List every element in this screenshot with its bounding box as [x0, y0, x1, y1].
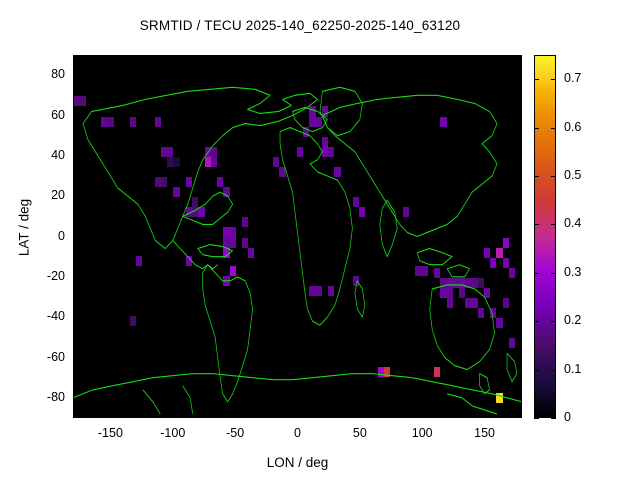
y-tick-label: -80	[19, 390, 65, 404]
colorbar-tick	[551, 370, 556, 371]
x-tick	[360, 55, 361, 60]
y-tick	[73, 75, 78, 76]
colorbar-tick	[534, 370, 539, 371]
colorbar-tick	[534, 418, 539, 419]
x-tick	[485, 55, 486, 60]
x-tick	[110, 413, 111, 418]
x-axis-label: LON / deg	[73, 455, 522, 470]
colorbar-tick-label: 0.4	[564, 216, 614, 230]
colorbar-tick-label: 0.5	[564, 168, 614, 182]
y-tick	[73, 317, 78, 318]
x-tick	[422, 55, 423, 60]
y-tick	[517, 358, 522, 359]
y-tick-label: 80	[19, 67, 65, 81]
y-tick-label: 0	[19, 229, 65, 243]
x-tick	[235, 55, 236, 60]
x-tick	[110, 55, 111, 60]
colorbar-tick	[551, 273, 556, 274]
x-tick	[298, 413, 299, 418]
colorbar-tick-label: 0.2	[564, 313, 614, 327]
colorbar-tick	[551, 418, 556, 419]
x-tick	[422, 413, 423, 418]
colorbar-tick-label: 0.6	[564, 120, 614, 134]
colorbar-tick	[551, 128, 556, 129]
colorbar-tick	[534, 79, 539, 80]
colorbar-tick	[534, 128, 539, 129]
y-tick-label: 40	[19, 148, 65, 162]
colorbar-tick-label: 0.3	[564, 265, 614, 279]
colorbar	[534, 55, 556, 418]
colorbar-tick-label: 0.7	[564, 71, 614, 85]
coastline-overlay	[73, 55, 522, 418]
y-tick	[73, 196, 78, 197]
y-tick	[73, 237, 78, 238]
colorbar-tick	[534, 273, 539, 274]
x-tick	[173, 55, 174, 60]
colorbar-tick	[534, 176, 539, 177]
y-tick-label: 60	[19, 108, 65, 122]
y-tick	[517, 237, 522, 238]
x-tick-label: -150	[80, 426, 140, 440]
colorbar-tick	[551, 321, 556, 322]
colorbar-tick-label: 0.1	[564, 362, 614, 376]
y-tick	[73, 116, 78, 117]
y-tick	[517, 196, 522, 197]
x-tick	[360, 413, 361, 418]
y-tick	[517, 156, 522, 157]
y-tick-label: -60	[19, 350, 65, 364]
y-tick-label: 20	[19, 188, 65, 202]
y-tick	[73, 277, 78, 278]
chart-title: SRMTID / TECU 2025-140_62250-2025-140_63…	[0, 18, 600, 33]
colorbar-tick	[551, 224, 556, 225]
x-tick-label: -50	[205, 426, 265, 440]
x-tick-label: 50	[330, 426, 390, 440]
y-tick	[517, 398, 522, 399]
map-plot-area	[73, 55, 522, 418]
y-tick-label: -40	[19, 309, 65, 323]
y-tick	[73, 358, 78, 359]
y-tick	[517, 317, 522, 318]
x-tick-label: 0	[268, 426, 328, 440]
x-tick-label: 100	[392, 426, 452, 440]
colorbar-tick-label: 0	[564, 410, 614, 424]
x-tick	[173, 413, 174, 418]
x-tick	[485, 413, 486, 418]
x-tick	[235, 413, 236, 418]
y-tick	[517, 116, 522, 117]
x-tick-label: 150	[455, 426, 515, 440]
colorbar-tick	[551, 176, 556, 177]
x-tick	[298, 55, 299, 60]
colorbar-tick	[551, 79, 556, 80]
y-tick	[73, 156, 78, 157]
y-tick	[517, 277, 522, 278]
y-tick	[517, 75, 522, 76]
colorbar-tick	[534, 224, 539, 225]
x-tick-label: -100	[143, 426, 203, 440]
colorbar-tick	[534, 321, 539, 322]
y-tick	[73, 398, 78, 399]
chart-page: SRMTID / TECU 2025-140_62250-2025-140_63…	[0, 0, 640, 480]
y-tick-label: -20	[19, 269, 65, 283]
